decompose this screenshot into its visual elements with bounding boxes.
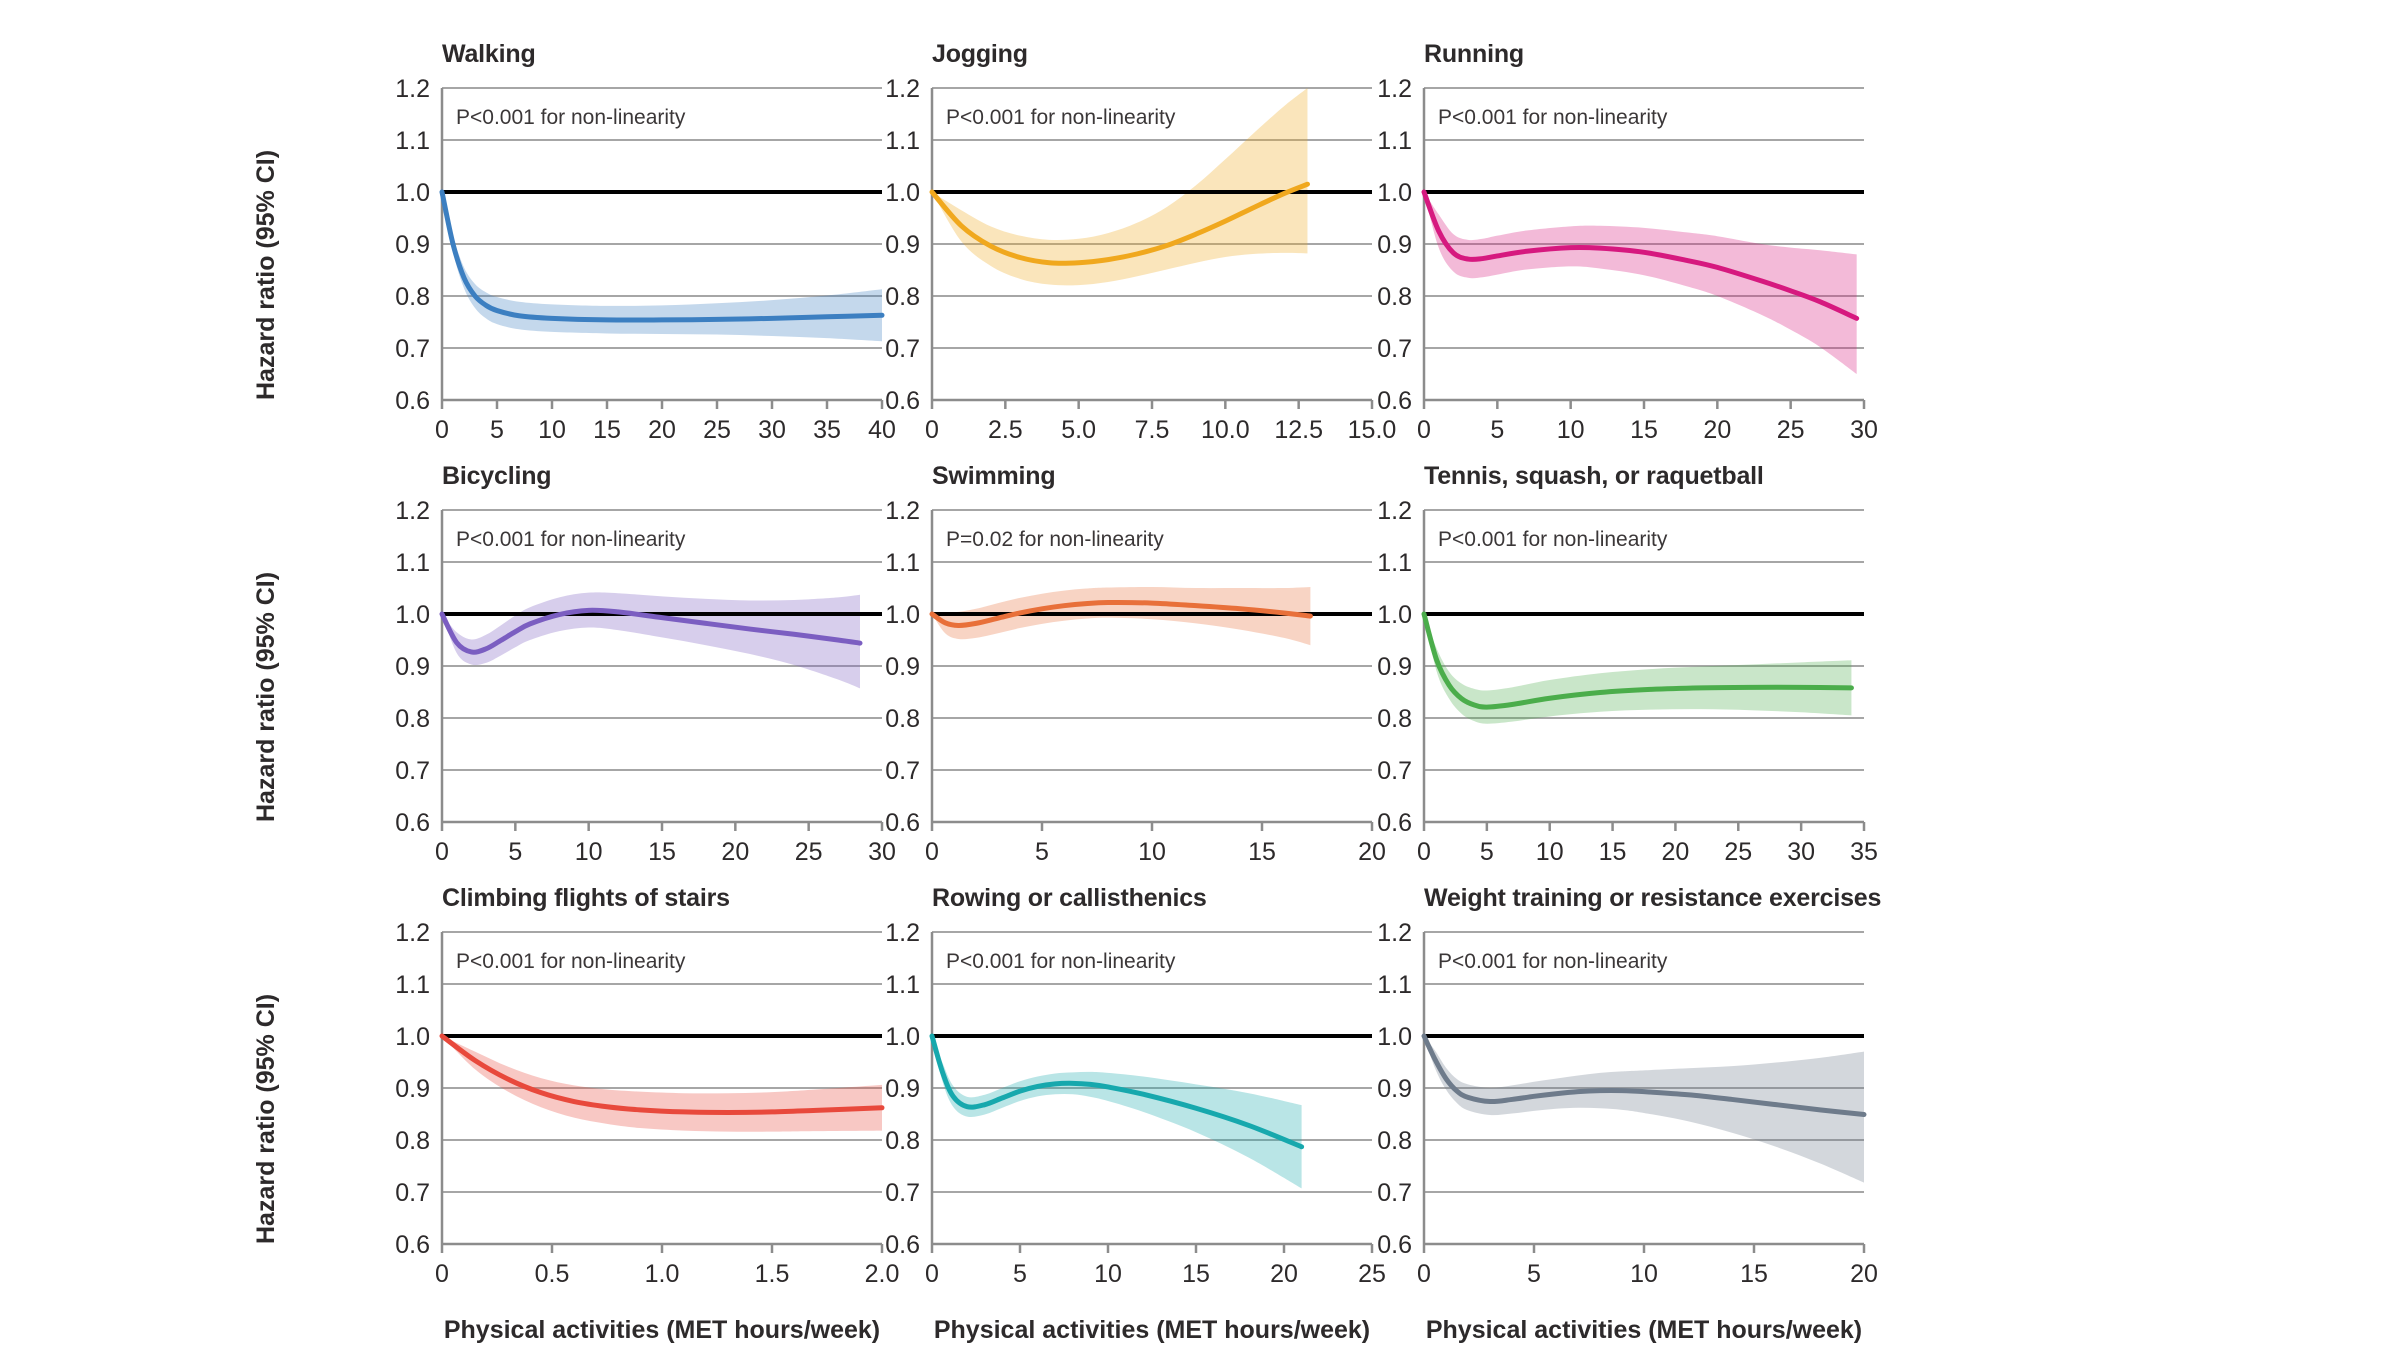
plot-area: 0.60.70.80.91.01.11.20510152025 <box>872 932 1432 1314</box>
panel-title: Swimming <box>932 462 1055 491</box>
x-tick-label: 10.0 <box>1201 416 1250 444</box>
x-tick-label: 10 <box>1557 416 1585 444</box>
y-tick-label: 0.8 <box>885 1127 920 1155</box>
y-tick-label: 0.8 <box>885 283 920 311</box>
plot-area: 0.60.70.80.91.01.11.200.51.01.52.0 <box>382 932 942 1314</box>
x-tick-label: 10 <box>538 416 566 444</box>
y-tick-label: 0.9 <box>885 231 920 259</box>
x-tick-label: 5 <box>1480 838 1494 866</box>
y-tick-label: 1.2 <box>395 497 430 525</box>
x-tick-label: 12.5 <box>1274 416 1323 444</box>
confidence-interval-band <box>932 587 1310 645</box>
y-tick-label: 0.9 <box>395 1075 430 1103</box>
x-tick-label: 10 <box>1138 838 1166 866</box>
x-tick-label: 15 <box>648 838 676 866</box>
y-tick-label: 1.1 <box>1377 971 1412 999</box>
y-tick-label: 1.1 <box>1377 127 1412 155</box>
panel-title: Walking <box>442 40 536 69</box>
x-tick-label: 25 <box>1724 838 1752 866</box>
panel-title: Bicycling <box>442 462 551 491</box>
panel-title: Climbing flights of stairs <box>442 884 730 913</box>
x-axis-label: Physical activities (MET hours/week) <box>442 1316 882 1345</box>
y-tick-label: 0.7 <box>885 1179 920 1207</box>
x-tick-label: 5.0 <box>1061 416 1096 444</box>
y-tick-label: 0.6 <box>395 1231 430 1259</box>
y-tick-label: 0.7 <box>1377 757 1412 785</box>
panel-title: Tennis, squash, or raquetball <box>1424 462 1764 491</box>
x-tick-label: 20 <box>721 838 749 866</box>
y-tick-label: 1.1 <box>885 549 920 577</box>
y-tick-label: 1.0 <box>1377 179 1412 207</box>
y-tick-label: 0.8 <box>885 705 920 733</box>
y-tick-label: 0.7 <box>395 335 430 363</box>
y-tick-label: 1.0 <box>1377 1023 1412 1051</box>
x-tick-label: 10 <box>1536 838 1564 866</box>
confidence-interval-band <box>442 1036 882 1132</box>
y-tick-label: 0.6 <box>1377 809 1412 837</box>
panel-title: Rowing or callisthenics <box>932 884 1207 913</box>
plot-area: 0.60.70.80.91.01.11.205101520 <box>1364 932 1924 1314</box>
x-tick-label: 5 <box>1035 838 1049 866</box>
x-tick-label: 0 <box>925 416 939 444</box>
y-axis-label: Hazard ratio (95% CI) <box>252 994 281 1244</box>
y-tick-label: 0.7 <box>885 757 920 785</box>
y-tick-label: 1.2 <box>885 75 920 103</box>
plot-area: 0.60.70.80.91.01.11.202.55.07.510.012.51… <box>872 88 1432 470</box>
x-tick-label: 20 <box>1270 1260 1298 1288</box>
y-tick-label: 0.6 <box>1377 1231 1412 1259</box>
x-tick-label: 15 <box>1740 1260 1768 1288</box>
x-tick-label: 2.5 <box>988 416 1023 444</box>
y-tick-label: 0.9 <box>1377 653 1412 681</box>
y-tick-label: 0.9 <box>395 231 430 259</box>
y-tick-label: 1.2 <box>1377 497 1412 525</box>
x-tick-label: 5 <box>1527 1260 1541 1288</box>
x-tick-label: 0 <box>925 1260 939 1288</box>
y-tick-label: 0.8 <box>395 705 430 733</box>
x-tick-label: 15 <box>1599 838 1627 866</box>
y-tick-label: 0.9 <box>885 1075 920 1103</box>
y-tick-label: 0.8 <box>1377 1127 1412 1155</box>
y-axis-label: Hazard ratio (95% CI) <box>252 150 281 400</box>
y-tick-label: 0.9 <box>885 653 920 681</box>
physical-activity-hazard-ratio-figure: WalkingHazard ratio (95% CI)P<0.001 for … <box>0 0 2400 1350</box>
x-tick-label: 0 <box>1417 416 1431 444</box>
x-tick-label: 15 <box>1630 416 1658 444</box>
y-tick-label: 0.9 <box>1377 231 1412 259</box>
x-tick-label: 0 <box>435 838 449 866</box>
y-tick-label: 0.8 <box>395 283 430 311</box>
y-tick-label: 0.8 <box>1377 705 1412 733</box>
x-axis-label: Physical activities (MET hours/week) <box>932 1316 1372 1345</box>
x-tick-label: 0 <box>435 1260 449 1288</box>
y-tick-label: 0.7 <box>1377 1179 1412 1207</box>
x-tick-label: 15 <box>1182 1260 1210 1288</box>
x-tick-label: 30 <box>1850 416 1878 444</box>
plot-area: 0.60.70.80.91.01.11.205101520 <box>872 510 1432 892</box>
x-tick-label: 35 <box>813 416 841 444</box>
y-tick-label: 1.1 <box>885 971 920 999</box>
y-tick-label: 0.7 <box>395 757 430 785</box>
confidence-interval-band <box>1424 192 1857 374</box>
panel-title: Weight training or resistance exercises <box>1424 884 1881 913</box>
y-tick-label: 0.6 <box>885 387 920 415</box>
y-tick-label: 0.6 <box>885 809 920 837</box>
x-tick-label: 1.5 <box>755 1260 790 1288</box>
x-tick-label: 5 <box>1013 1260 1027 1288</box>
panel-title: Running <box>1424 40 1524 69</box>
x-tick-label: 5 <box>1490 416 1504 444</box>
x-tick-label: 5 <box>490 416 504 444</box>
y-tick-label: 0.9 <box>1377 1075 1412 1103</box>
y-axis-label: Hazard ratio (95% CI) <box>252 572 281 822</box>
plot-area: 0.60.70.80.91.01.11.205101520253035 <box>1364 510 1924 892</box>
y-tick-label: 0.6 <box>395 387 430 415</box>
x-tick-label: 20 <box>648 416 676 444</box>
x-tick-label: 30 <box>758 416 786 444</box>
x-tick-label: 0 <box>925 838 939 866</box>
y-tick-label: 1.1 <box>1377 549 1412 577</box>
x-tick-label: 25 <box>703 416 731 444</box>
y-tick-label: 0.6 <box>885 1231 920 1259</box>
y-tick-label: 0.9 <box>395 653 430 681</box>
y-tick-label: 0.7 <box>1377 335 1412 363</box>
x-tick-label: 25 <box>1777 416 1805 444</box>
y-tick-label: 1.0 <box>885 179 920 207</box>
plot-area: 0.60.70.80.91.01.11.2051015202530 <box>1364 88 1924 470</box>
y-tick-label: 1.1 <box>395 549 430 577</box>
x-tick-label: 10 <box>1630 1260 1658 1288</box>
x-tick-label: 7.5 <box>1135 416 1170 444</box>
y-tick-label: 0.6 <box>395 809 430 837</box>
y-tick-label: 1.2 <box>1377 919 1412 947</box>
y-tick-label: 1.2 <box>1377 75 1412 103</box>
y-tick-label: 0.8 <box>395 1127 430 1155</box>
y-tick-label: 1.1 <box>885 127 920 155</box>
x-tick-label: 0.5 <box>535 1260 570 1288</box>
y-tick-label: 1.0 <box>885 601 920 629</box>
y-tick-label: 0.6 <box>1377 387 1412 415</box>
x-tick-label: 20 <box>1703 416 1731 444</box>
x-tick-label: 0 <box>1417 838 1431 866</box>
y-tick-label: 1.1 <box>395 127 430 155</box>
y-tick-label: 0.7 <box>395 1179 430 1207</box>
x-axis-label: Physical activities (MET hours/week) <box>1424 1316 1864 1345</box>
y-tick-label: 1.2 <box>885 497 920 525</box>
x-tick-label: 15 <box>593 416 621 444</box>
x-tick-label: 35 <box>1850 838 1878 866</box>
x-tick-label: 0 <box>435 416 449 444</box>
x-tick-label: 15 <box>1248 838 1276 866</box>
x-tick-label: 10 <box>1094 1260 1122 1288</box>
y-tick-label: 0.8 <box>1377 283 1412 311</box>
x-tick-label: 0 <box>1417 1260 1431 1288</box>
x-tick-label: 20 <box>1850 1260 1878 1288</box>
y-tick-label: 1.0 <box>395 601 430 629</box>
confidence-interval-band <box>932 1036 1302 1188</box>
x-tick-label: 25 <box>795 838 823 866</box>
plot-area: 0.60.70.80.91.01.11.20510152025303540 <box>382 88 942 470</box>
panel-title: Jogging <box>932 40 1028 69</box>
x-tick-label: 5 <box>508 838 522 866</box>
y-tick-label: 1.0 <box>395 179 430 207</box>
y-tick-label: 1.2 <box>395 919 430 947</box>
y-tick-label: 0.7 <box>885 335 920 363</box>
x-tick-label: 1.0 <box>645 1260 680 1288</box>
x-tick-label: 30 <box>1787 838 1815 866</box>
x-tick-label: 10 <box>575 838 603 866</box>
y-tick-label: 1.0 <box>395 1023 430 1051</box>
y-tick-label: 1.2 <box>885 919 920 947</box>
y-tick-label: 1.1 <box>395 971 430 999</box>
y-tick-label: 1.0 <box>1377 601 1412 629</box>
plot-area: 0.60.70.80.91.01.11.2051015202530 <box>382 510 942 892</box>
y-tick-label: 1.2 <box>395 75 430 103</box>
x-tick-label: 20 <box>1662 838 1690 866</box>
y-tick-label: 1.0 <box>885 1023 920 1051</box>
